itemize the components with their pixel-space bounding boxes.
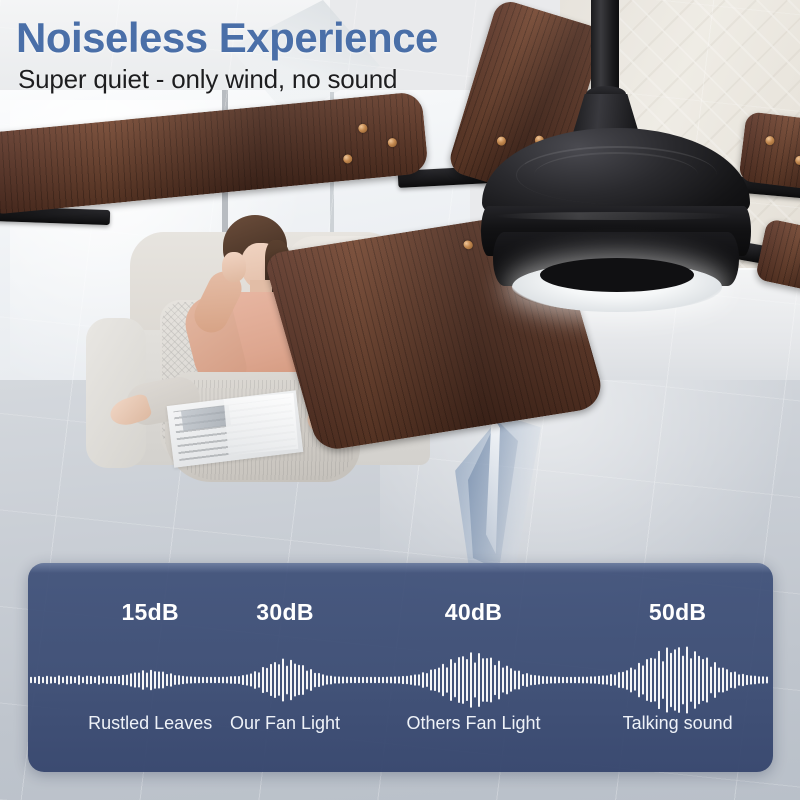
waveform-bar — [214, 677, 216, 683]
waveform-bar — [222, 677, 224, 684]
waveform-bar — [366, 677, 368, 683]
waveform-bar — [150, 670, 152, 691]
waveform-bar — [758, 676, 760, 683]
waveform-bar — [410, 675, 412, 685]
waveform-bar — [110, 676, 112, 684]
waveform-bar — [250, 673, 252, 686]
waveform-bar — [622, 672, 624, 689]
waveform-bar — [274, 662, 276, 698]
waveform-bar — [330, 676, 332, 685]
waveform-bar — [406, 676, 408, 684]
sound-source-label: Our Fan Light — [230, 713, 340, 734]
waveform-bar — [490, 658, 492, 703]
waveform-chart — [28, 641, 773, 719]
fan-blade-right-lower — [755, 218, 800, 304]
waveform-bar — [546, 676, 548, 684]
waveform-bar — [634, 669, 636, 690]
db-value-label: 30dB — [256, 599, 313, 626]
waveform-bar — [210, 677, 212, 683]
waveform-bar — [426, 673, 428, 687]
waveform-bar — [542, 676, 544, 684]
waveform-bar — [606, 675, 608, 684]
blade-screw — [795, 155, 800, 165]
waveform-bar — [574, 677, 576, 684]
waveform-bar — [378, 677, 380, 684]
waveform-bar — [282, 658, 284, 701]
waveform-bar — [510, 668, 512, 692]
waveform-bar — [514, 671, 516, 690]
db-value-label: 40dB — [445, 599, 502, 626]
waveform-bar — [582, 677, 584, 684]
waveform-bar — [118, 676, 120, 684]
waveform-bar — [286, 666, 288, 695]
waveform-bar — [654, 658, 656, 701]
waveform-bar — [690, 658, 692, 702]
waveform-bar — [534, 675, 536, 685]
waveform-bar — [318, 673, 320, 687]
waveform-bar — [254, 671, 256, 689]
waveform-bar — [762, 676, 764, 684]
waveform-bar — [342, 676, 344, 683]
waveform-bar — [486, 658, 488, 702]
waveform-bar — [746, 675, 748, 685]
waveform-bar — [418, 674, 420, 685]
fan-downrod — [591, 0, 619, 100]
waveform-bar — [298, 665, 300, 695]
waveform-bar — [614, 675, 616, 686]
waveform-bar — [562, 677, 564, 684]
waveform-bar — [194, 677, 196, 684]
waveform-bar — [266, 668, 268, 692]
waveform-bar — [566, 677, 568, 684]
waveform-bar — [706, 657, 708, 702]
sound-source-label: Talking sound — [623, 713, 733, 734]
waveform-bar — [642, 665, 644, 694]
waveform-bar — [102, 677, 104, 684]
waveform-bar — [258, 672, 260, 688]
waveform-bar — [270, 664, 272, 696]
waveform-bar — [74, 677, 76, 683]
waveform-bar — [314, 673, 316, 688]
waveform-bar — [454, 663, 456, 698]
waveform-bar — [166, 674, 168, 686]
waveform-bar — [402, 676, 404, 684]
waveform-bar — [734, 672, 736, 689]
waveform-bar — [86, 676, 88, 685]
waveform-bar — [226, 677, 228, 684]
waveform-bar — [538, 675, 540, 684]
page-subtitle: Super quiet - only wind, no sound — [18, 64, 397, 95]
waveform-bar — [518, 670, 520, 689]
waveform-bar — [698, 656, 700, 705]
waveform-bar — [78, 675, 80, 685]
waveform-bar — [294, 663, 296, 696]
waveform-bar — [246, 674, 248, 685]
waveform-bar — [390, 677, 392, 684]
waveform-bar — [658, 651, 660, 709]
waveform-bar — [306, 671, 308, 690]
waveform-bar — [106, 676, 108, 684]
waveform-bar — [598, 676, 600, 684]
blade-screw — [387, 138, 397, 148]
waveform-bar — [46, 676, 48, 684]
waveform-bar — [202, 677, 204, 684]
waveform-bar — [470, 652, 472, 707]
waveform-bar — [570, 677, 572, 684]
waveform-bar — [162, 672, 164, 689]
panel-top-highlight — [28, 563, 773, 573]
led-ring-center — [540, 258, 694, 292]
waveform-bar — [34, 677, 36, 683]
waveform-bar — [554, 676, 556, 683]
waveform-bar — [726, 669, 728, 691]
waveform-bar — [738, 674, 740, 685]
housing-ridge-inner — [534, 152, 698, 198]
waveform-bar — [722, 667, 724, 692]
waveform-bar — [358, 677, 360, 683]
waveform-bar — [430, 669, 432, 690]
sound-source-row: Rustled LeavesOur Fan LightOthers Fan Li… — [28, 713, 773, 743]
waveform-bar — [678, 647, 680, 713]
waveform-bar — [70, 676, 72, 684]
waveform-bar — [558, 677, 560, 684]
waveform-bar — [182, 676, 184, 684]
waveform-bar — [234, 676, 236, 684]
waveform-bar — [702, 659, 704, 701]
waveform-bar — [114, 676, 116, 684]
waveform-bar — [674, 649, 676, 711]
waveform-bar — [230, 676, 232, 684]
waveform-bar — [62, 677, 64, 683]
waveform-bar — [526, 673, 528, 687]
waveform-bar — [626, 670, 628, 690]
waveform-bar — [530, 675, 532, 686]
waveform-bar — [550, 676, 552, 683]
waveform-bar — [646, 659, 648, 701]
waveform-bar — [710, 667, 712, 694]
waveform-bar — [158, 671, 160, 688]
waveform-bar — [578, 677, 580, 684]
db-value-row: 15dB30dB40dB50dB — [28, 599, 773, 633]
page-title: Noiseless Experience — [16, 14, 438, 62]
blade-screw — [358, 123, 368, 133]
waveform-bar — [54, 677, 56, 683]
waveform-bar — [686, 646, 688, 713]
waveform-bar — [322, 674, 324, 686]
blade-screw — [462, 240, 473, 250]
fan-blade-upper-left — [0, 91, 429, 215]
waveform-bar — [130, 673, 132, 686]
waveform-bar — [90, 676, 92, 684]
waveform-bar — [242, 675, 244, 685]
waveform-bar — [362, 677, 364, 683]
waveform-bar — [394, 676, 396, 683]
product-marketing-image: Noiseless Experience Super quiet - only … — [0, 0, 800, 800]
waveform-bar — [98, 675, 100, 684]
waveform-bar — [278, 664, 280, 696]
waveform-bar — [682, 656, 684, 705]
waveform-bar — [82, 677, 84, 683]
waveform-bar — [586, 677, 588, 684]
waveform-bar — [346, 677, 348, 684]
waveform-bar — [730, 672, 732, 688]
waveform-bar — [354, 677, 356, 683]
waveform-bar — [134, 672, 136, 687]
waveform-bar — [382, 677, 384, 684]
waveform-svg — [28, 641, 773, 719]
waveform-bar — [522, 674, 524, 686]
waveform-bar — [122, 675, 124, 686]
waveform-bar — [146, 673, 148, 688]
waveform-bar — [186, 676, 188, 684]
noise-comparison-panel: 15dB30dB40dB50dB Rustled LeavesOur Fan L… — [28, 563, 773, 772]
waveform-bar — [478, 653, 480, 707]
waveform-bar — [670, 653, 672, 707]
waveform-bar — [326, 675, 328, 684]
waveform-bar — [398, 676, 400, 683]
waveform-bar — [386, 677, 388, 684]
blade-screw — [343, 154, 353, 164]
waveform-bar — [750, 675, 752, 684]
waveform-bar — [290, 660, 292, 701]
db-value-label: 50dB — [649, 599, 706, 626]
waveform-bar — [206, 677, 208, 683]
waveform-bar — [650, 658, 652, 702]
waveform-bar — [262, 667, 264, 693]
blade-screw — [496, 135, 507, 146]
waveform-bar — [58, 675, 60, 684]
housing-highlight — [495, 212, 735, 220]
waveform-bar — [94, 677, 96, 683]
waveform-bar — [462, 656, 464, 704]
waveform-bar — [302, 665, 304, 695]
waveform-bar — [638, 663, 640, 698]
waveform-bar — [450, 659, 452, 701]
waveform-bar — [142, 670, 144, 690]
waveform-bar — [666, 647, 668, 712]
waveform-bar — [474, 662, 476, 697]
waveform-bar — [38, 676, 40, 684]
waveform-bar — [498, 661, 500, 700]
waveform-bar — [350, 677, 352, 684]
waveform-bar — [178, 675, 180, 685]
waveform-bar — [506, 666, 508, 695]
waveform-bar — [374, 677, 376, 683]
waveform-bar — [238, 676, 240, 684]
waveform-bar — [754, 676, 756, 685]
waveform-bar — [458, 657, 460, 703]
blade-screw — [765, 136, 775, 146]
waveform-bar — [742, 674, 744, 686]
waveform-bar — [174, 675, 176, 685]
waveform-bar — [66, 676, 68, 685]
waveform-bar — [466, 659, 468, 701]
waveform-bar — [414, 674, 416, 685]
waveform-bar — [482, 658, 484, 702]
waveform-bar — [438, 667, 440, 692]
waveform-bar — [50, 676, 52, 683]
waveform-bar — [502, 667, 504, 692]
waveform-bar — [338, 676, 340, 683]
sound-source-label: Rustled Leaves — [88, 713, 212, 734]
waveform-bar — [494, 665, 496, 695]
waveform-bar — [446, 667, 448, 693]
waveform-bar — [594, 676, 596, 684]
waveform-bar — [30, 677, 32, 683]
waveform-bar — [138, 672, 140, 687]
waveform-bar — [610, 674, 612, 686]
waveform-bar — [590, 676, 592, 683]
waveform-bar — [694, 651, 696, 709]
waveform-bar — [198, 677, 200, 684]
waveform-bar — [126, 675, 128, 686]
db-value-label: 15dB — [121, 599, 178, 626]
waveform-bar — [630, 667, 632, 692]
waveform-bar — [618, 672, 620, 688]
waveform-bar — [42, 677, 44, 683]
waveform-bar — [714, 662, 716, 698]
waveform-bar — [218, 677, 220, 684]
waveform-bar — [718, 668, 720, 693]
waveform-bar — [190, 676, 192, 683]
waveform-bar — [422, 672, 424, 688]
waveform-bar — [170, 673, 172, 686]
waveform-bar — [602, 675, 604, 684]
waveform-bar — [370, 677, 372, 683]
sound-source-label: Others Fan Light — [406, 713, 540, 734]
waveform-bar — [766, 677, 768, 684]
waveform-bar — [310, 669, 312, 691]
waveform-bar — [442, 664, 444, 697]
waveform-bar — [334, 676, 336, 683]
waveform-bar — [154, 671, 156, 689]
waveform-bar — [662, 661, 664, 699]
waveform-bar — [434, 669, 436, 691]
